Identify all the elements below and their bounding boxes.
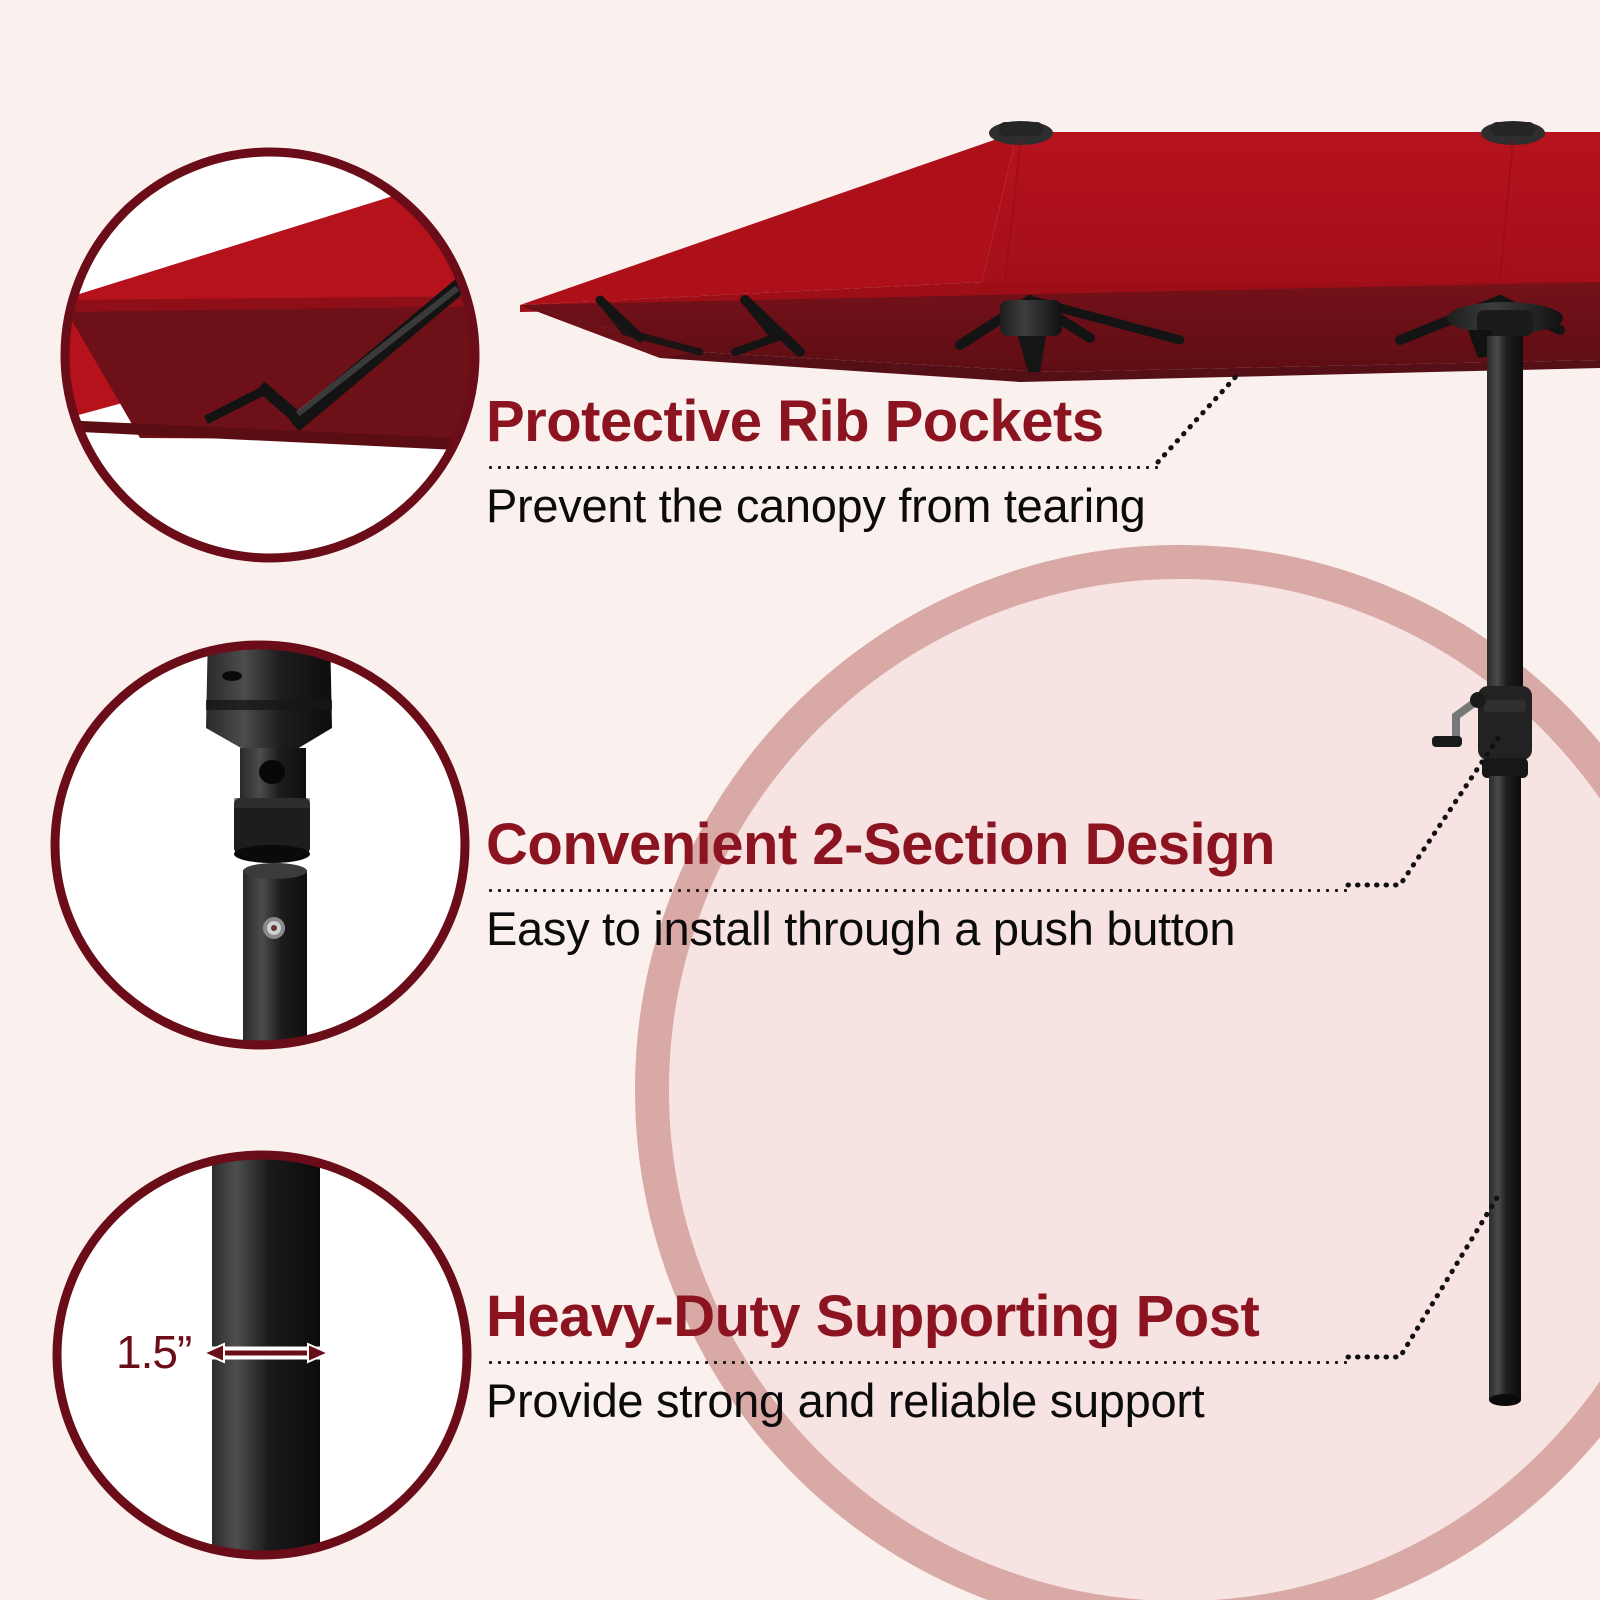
feature-3-title: Heavy-Duty Supporting Post [486, 1288, 1348, 1346]
leader-line-3 [1348, 1196, 1498, 1357]
feature-3-divider [486, 1360, 1348, 1365]
leader-line-1 [1158, 372, 1240, 462]
feature-2-title: Convenient 2-Section Design [486, 816, 1348, 874]
feature-rib-pockets: Protective Rib Pockets Prevent the canop… [486, 393, 1158, 529]
feature-1-subtitle: Prevent the canopy from tearing [486, 482, 1158, 529]
infographic-canvas: Protective Rib Pockets Prevent the canop… [0, 0, 1600, 1600]
feature-3-subtitle: Provide strong and reliable support [486, 1377, 1348, 1424]
feature-1-divider [486, 465, 1158, 470]
feature-two-section-design: Convenient 2-Section Design Easy to inst… [486, 816, 1348, 952]
feature-supporting-post: Heavy-Duty Supporting Post Provide stron… [486, 1288, 1348, 1424]
leader-line-2 [1348, 738, 1498, 885]
feature-2-divider [486, 888, 1348, 893]
post-diameter-label: 1.5” [116, 1325, 191, 1379]
feature-1-title: Protective Rib Pockets [486, 393, 1158, 451]
feature-2-subtitle: Easy to install through a push button [486, 905, 1348, 952]
